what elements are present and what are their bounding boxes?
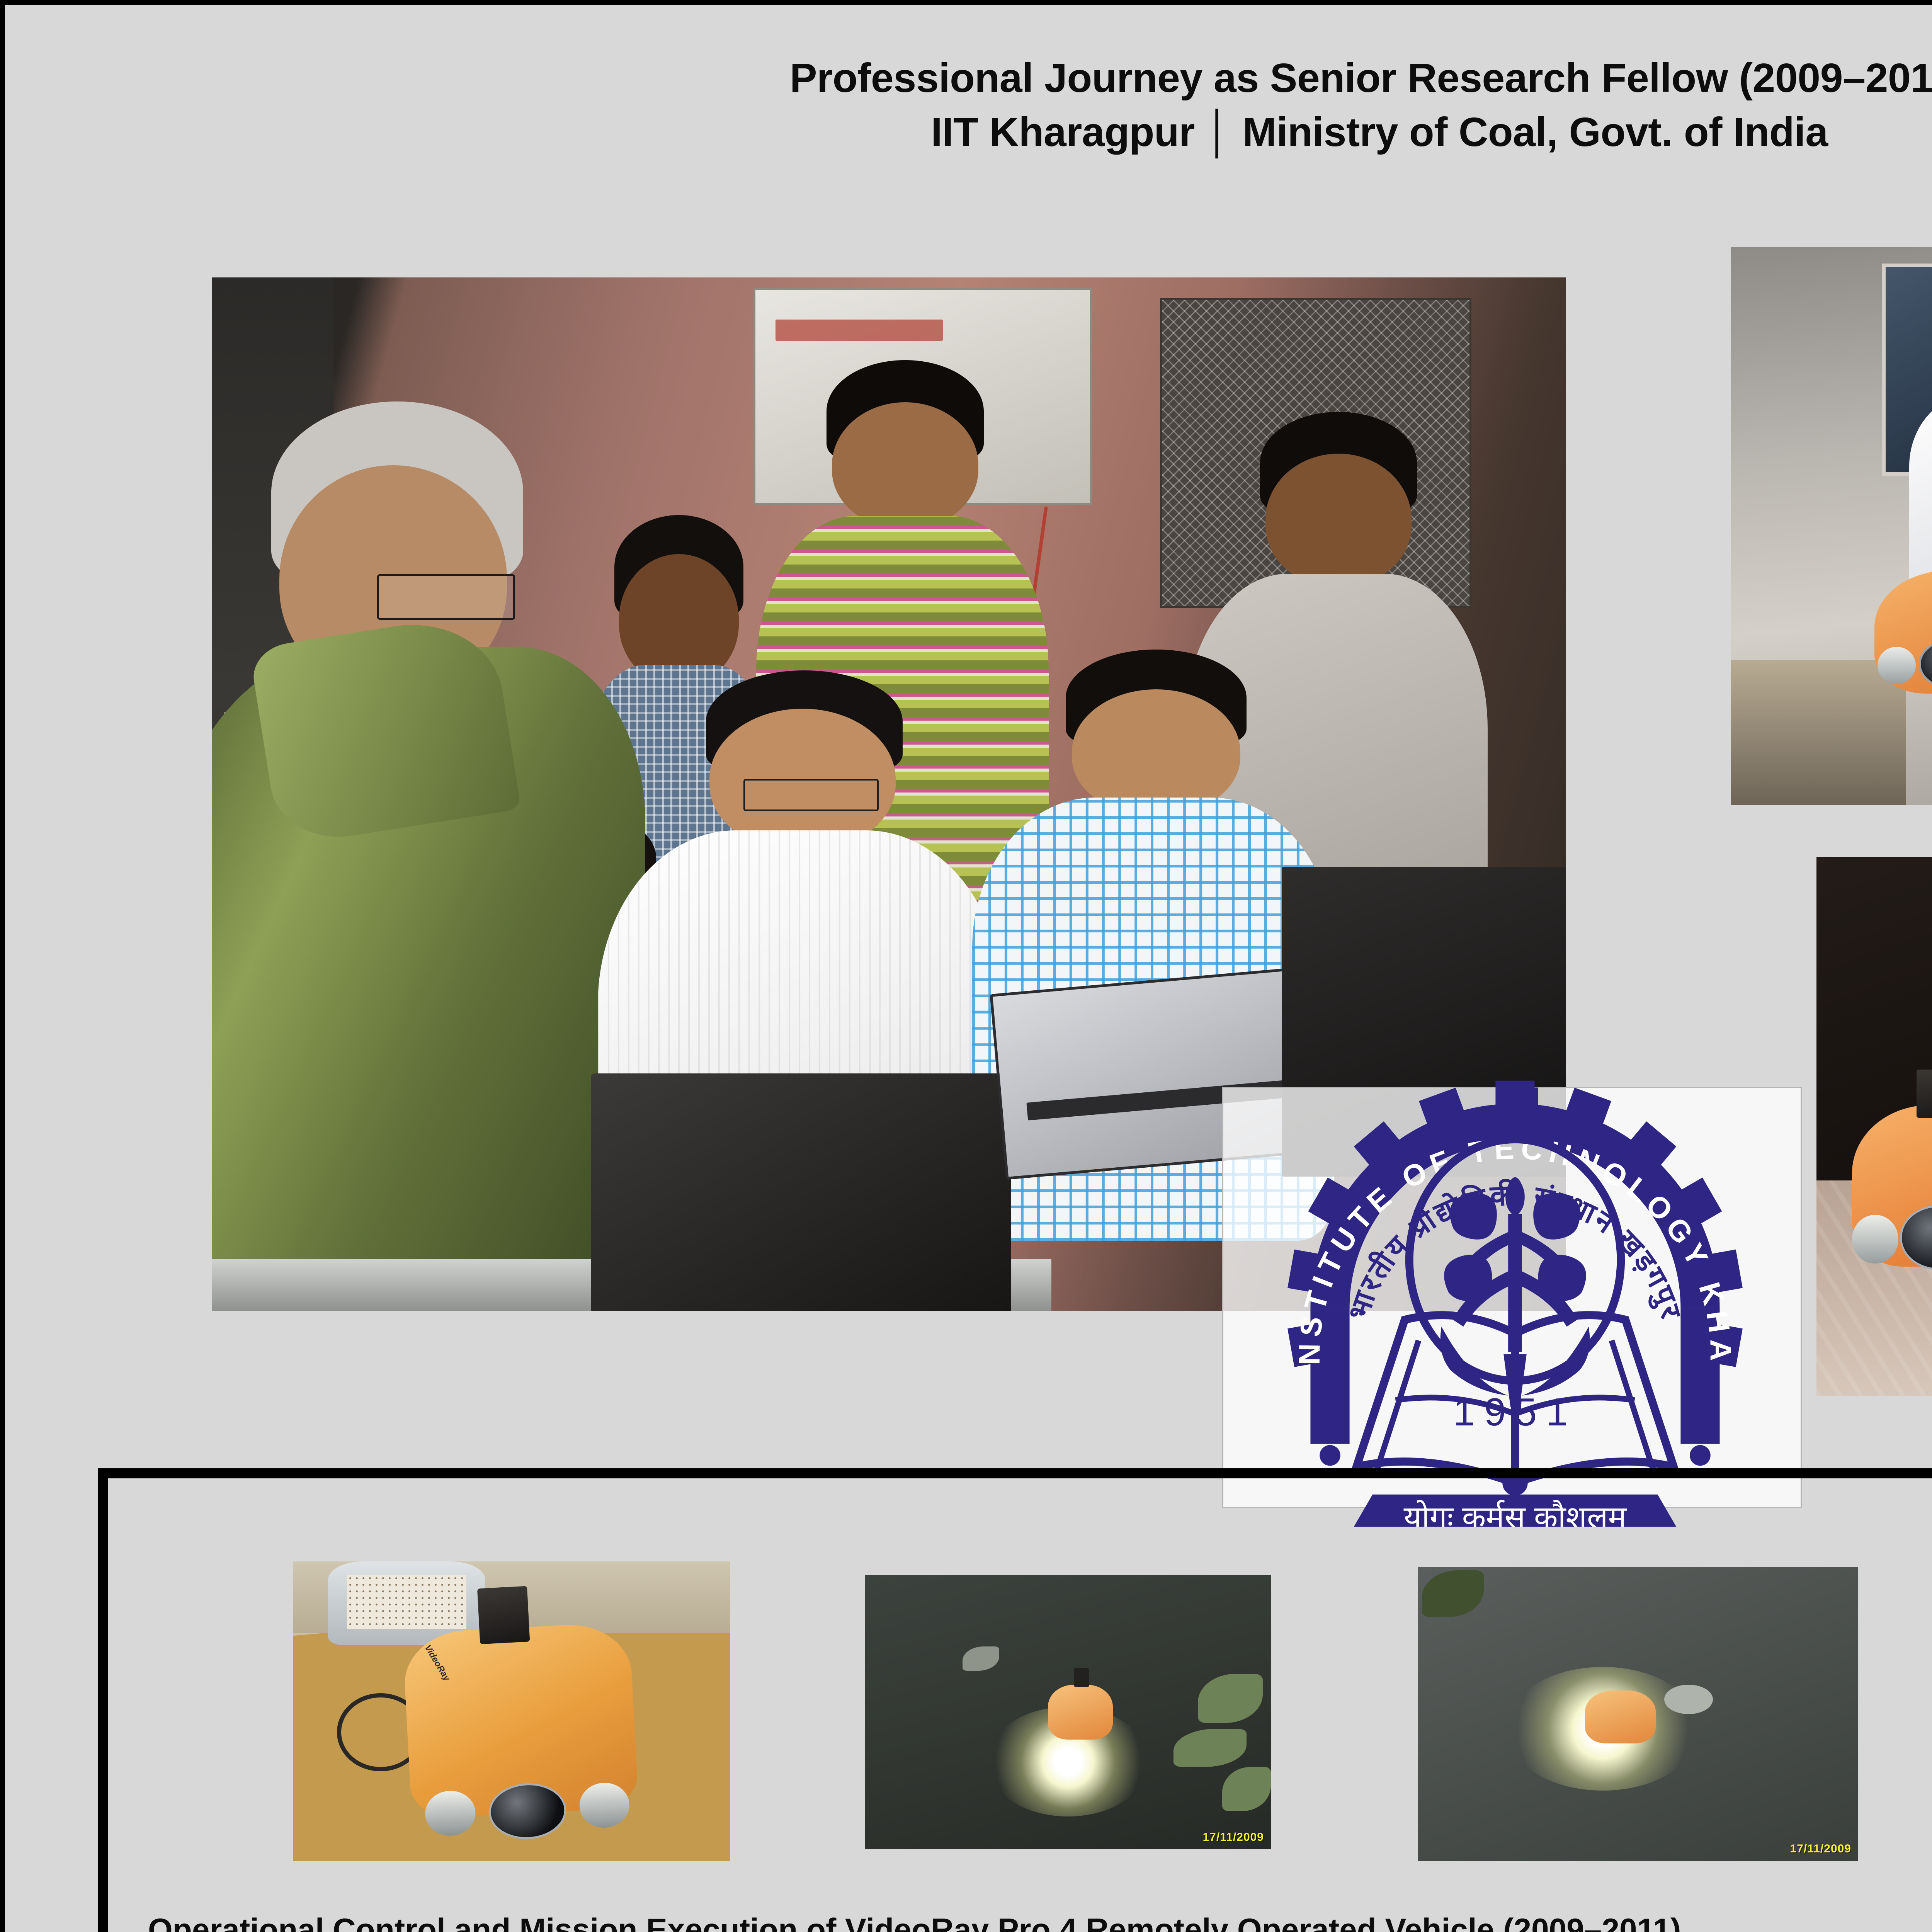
rov-brand-label: VideoRay bbox=[423, 1643, 452, 1683]
rov-camera-dome bbox=[1919, 638, 1932, 690]
eyeglasses bbox=[377, 574, 515, 620]
rov-camera-dome bbox=[1900, 1205, 1932, 1270]
title-line-2: IIT Kharagpur │ Ministry of Coal, Govt. … bbox=[5, 105, 1932, 160]
videoray-rov-body: VideoRay bbox=[402, 1621, 639, 1819]
rov-top-connector bbox=[477, 1586, 530, 1644]
photo-timestamp: 17/11/2009 bbox=[1790, 1842, 1852, 1855]
slide-canvas: Professional Journey as Senior Research … bbox=[0, 0, 1932, 1932]
page-title: Professional Journey as Senior Research … bbox=[5, 51, 1932, 160]
title-line-1: Professional Journey as Senior Research … bbox=[5, 51, 1932, 105]
person-green-jacket-official bbox=[212, 401, 604, 1311]
person-white-jacket bbox=[1930, 303, 1932, 806]
rov-top-connector bbox=[1917, 1070, 1932, 1118]
logo-year: 1951 bbox=[1453, 1390, 1577, 1434]
researcher-holding-rov-photo bbox=[1731, 247, 1932, 805]
surface-debris bbox=[1664, 1685, 1713, 1714]
rov-surfacing-lights-photo: 17/11/2009 bbox=[865, 1575, 1271, 1849]
side-cabinet bbox=[1731, 660, 1906, 805]
rov-submerged-photo: 17/11/2009 bbox=[1418, 1567, 1858, 1861]
mission-caption: Operational Control and Mission Executio… bbox=[148, 1908, 1932, 1932]
rov-camera-dome bbox=[487, 1781, 567, 1840]
rov-control-case bbox=[591, 1073, 1011, 1311]
rov-unit bbox=[1048, 1685, 1113, 1740]
photo-background: VideoRay bbox=[293, 1561, 730, 1861]
rov-control-console-photo: www.videoray.com +1 610-458-3000 VideoRa… bbox=[1816, 857, 1932, 1396]
eyeglasses bbox=[743, 779, 879, 811]
photo-timestamp: 17/11/2009 bbox=[1203, 1831, 1264, 1844]
mission-highlight-box: VideoRay 17/11/2009 17/11/20 bbox=[98, 1468, 1932, 1932]
rov-on-table-photo: VideoRay bbox=[293, 1561, 730, 1861]
rov-unit bbox=[1585, 1690, 1655, 1743]
iit-kharagpur-logo-panel: INDIAN INSTITUTE OF TECHNOLOGY KHARAGPUR… bbox=[1222, 1087, 1802, 1508]
iit-kharagpur-logo-icon: INDIAN INSTITUTE OF TECHNOLOGY KHARAGPUR… bbox=[1208, 1067, 1822, 1527]
